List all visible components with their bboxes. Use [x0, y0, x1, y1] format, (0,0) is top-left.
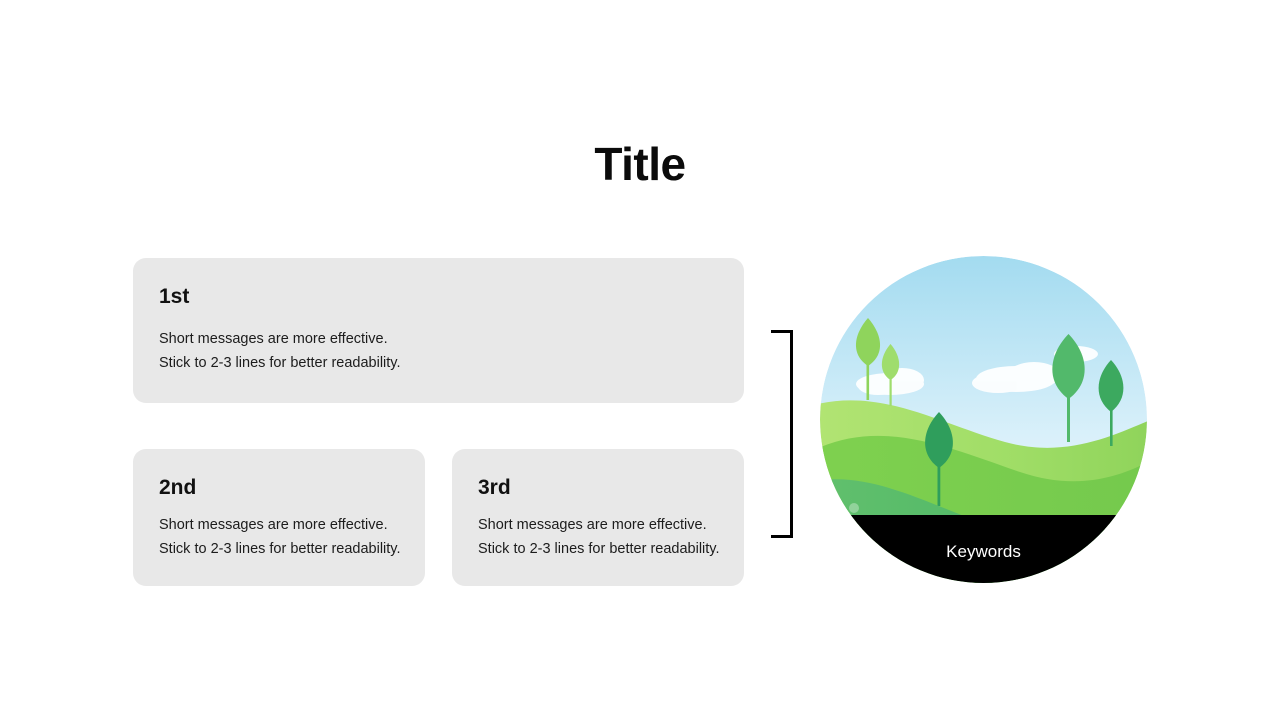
content-card-1[interactable]: 1st Short messages are more effective. S… — [133, 258, 744, 403]
caption-band — [820, 515, 1147, 583]
card-2-line-1: Short messages are more effective. — [159, 513, 399, 537]
landscape-circle-illustration: Keywords — [820, 256, 1147, 583]
page-title: Title — [0, 136, 1280, 192]
slide-canvas: Title 1st Short messages are more effect… — [0, 0, 1280, 720]
card-1-line-2: Stick to 2-3 lines for better readabilit… — [159, 351, 718, 375]
card-3-heading: 3rd — [478, 475, 718, 501]
landscape-scene-svg — [820, 256, 1147, 583]
bracket-bottom-tick — [771, 535, 793, 538]
content-card-3[interactable]: 3rd Short messages are more effective. S… — [452, 449, 744, 586]
card-1-line-1: Short messages are more effective. — [159, 327, 718, 351]
card-3-line-2: Stick to 2-3 lines for better readabilit… — [478, 537, 718, 561]
bracket-connector — [771, 330, 793, 538]
card-1-heading: 1st — [159, 284, 718, 310]
card-2-line-2: Stick to 2-3 lines for better readabilit… — [159, 537, 399, 561]
card-2-heading: 2nd — [159, 475, 399, 501]
bracket-stem — [790, 330, 793, 538]
card-3-line-1: Short messages are more effective. — [478, 513, 718, 537]
content-card-2[interactable]: 2nd Short messages are more effective. S… — [133, 449, 425, 586]
